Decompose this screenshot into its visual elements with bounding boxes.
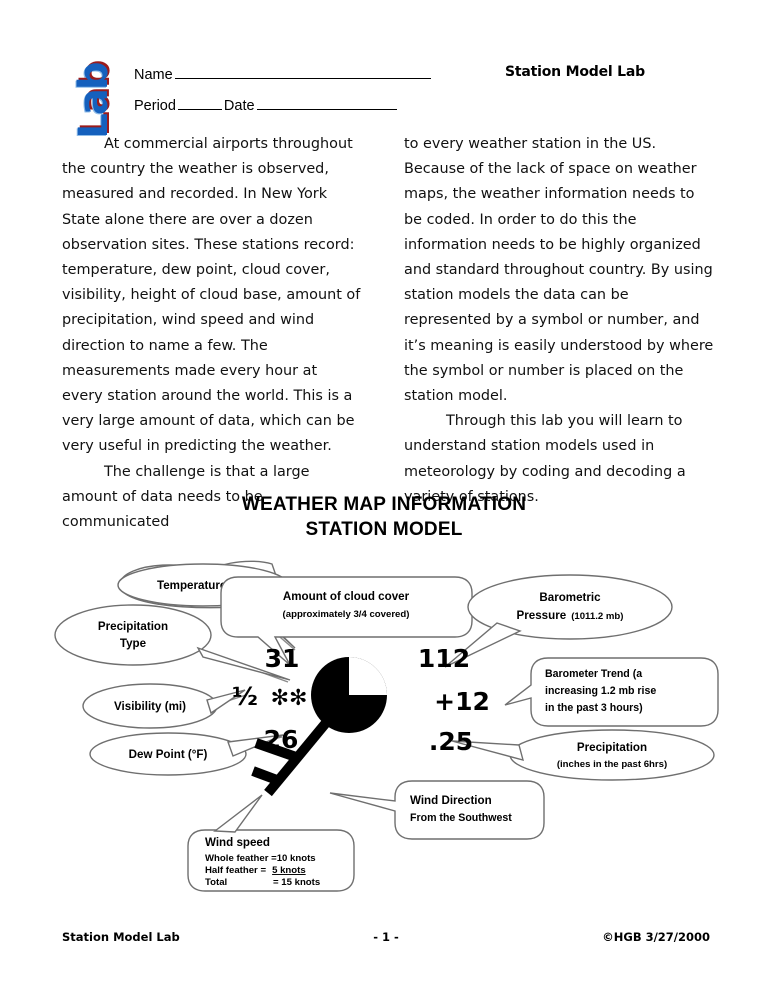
callout-wind-direction: Wind Direction From the Southwest: [330, 781, 544, 839]
callout-wind-direction-sub: From the Southwest: [410, 812, 512, 824]
value-precipitation-type: ✻✻: [271, 686, 308, 711]
callout-visibility-label: Visibility (mi): [114, 700, 186, 713]
value-pressure: 112: [418, 644, 470, 673]
right-column: to every weather station in the US. Beca…: [404, 132, 714, 510]
station-model-diagram: Temperature (°F) Precipitation Type Visi…: [0, 555, 768, 900]
callout-barometer-trend-line-3: in the past 3 hours): [545, 702, 643, 714]
diagram-title-line-2: STATION MODEL: [0, 517, 768, 542]
sky-cover-clear-quadrant: [349, 657, 387, 695]
value-temperature: 31: [265, 644, 300, 673]
callout-precipitation-label: Precipitation: [577, 741, 647, 754]
callout-barometer-trend: Barometer Trend (a increasing 1.2 mb ris…: [505, 658, 718, 726]
paragraph: At commercial airports throughout the co…: [62, 132, 362, 460]
value-precipitation-amount: .25: [429, 727, 473, 756]
date-input-blank[interactable]: [257, 95, 397, 110]
diagram-title: WEATHER MAP INFORMATION STATION MODEL: [0, 492, 768, 542]
callout-visibility: Visibility (mi): [83, 684, 245, 728]
callout-barometric-pressure: Barometric Pressure(1011.2 mb): [445, 575, 672, 667]
name-label: Name: [134, 67, 173, 83]
callout-wind-speed-line-3b: = 15 knots: [273, 877, 320, 888]
period-date-field-row: PeriodDate: [134, 95, 399, 114]
callout-precip-type-line-1: Precipitation: [98, 620, 168, 633]
callout-wind-speed-line-2b: 5 knots: [272, 865, 306, 876]
document-page: Lab Name PeriodDate Station Model Lab At…: [0, 0, 768, 994]
callout-precipitation-sub: (inches in the past 6hrs): [557, 759, 667, 770]
callout-barometric-pressure-line-2: Pressure: [517, 609, 567, 622]
callout-cloud-cover-sub: (approximately 3/4 covered): [283, 609, 410, 620]
callout-barometer-trend-line-1: Barometer Trend (a: [545, 668, 642, 680]
page-header: Lab Name PeriodDate Station Model Lab: [0, 46, 768, 132]
footer-copyright: ©HGB 3/27/2000: [602, 930, 710, 944]
lab-logo: Lab: [62, 52, 126, 128]
lab-logo-text: Lab: [71, 61, 117, 141]
page-footer: Station Model Lab - 1 - ©HGB 3/27/2000: [62, 930, 710, 950]
callout-barometer-trend-line-2: increasing 1.2 mb rise: [545, 685, 656, 697]
name-input-blank[interactable]: [175, 64, 431, 79]
callout-wind-speed-line-3a: Total: [205, 877, 227, 888]
callout-cloud-cover-label: Amount of cloud cover: [283, 590, 410, 603]
callout-barometric-pressure-line-1: Barometric: [539, 591, 601, 604]
diagram-title-line-1: WEATHER MAP INFORMATION: [0, 492, 768, 517]
callout-wind-direction-label: Wind Direction: [410, 794, 492, 807]
callout-wind-speed-line-2: Half feather =5 knots: [205, 865, 306, 876]
period-input-blank[interactable]: [178, 95, 222, 110]
period-label: Period: [134, 98, 176, 114]
callout-dew-point-label: Dew Point (°F): [129, 748, 208, 761]
value-dew-point: 26: [264, 725, 299, 754]
callout-precip-type-line-2: Type: [120, 637, 147, 650]
document-title: Station Model Lab: [430, 64, 720, 80]
callout-wind-speed-line-1: Whole feather =10 knots: [205, 853, 316, 864]
date-label: Date: [224, 98, 255, 114]
callout-wind-speed: Wind speed Whole feather =10 knots Half …: [188, 795, 354, 891]
wind-barb-half-feather: [253, 771, 277, 780]
callout-precipitation: Precipitation (inches in the past 6hrs): [452, 730, 714, 780]
value-pressure-trend: +12: [434, 687, 490, 716]
value-visibility: ½: [232, 682, 258, 711]
name-field-row: Name: [134, 64, 433, 83]
callout-wind-speed-label: Wind speed: [205, 836, 270, 849]
callout-barometric-pressure-sub: (1011.2 mb): [571, 611, 623, 622]
left-column: At commercial airports throughout the co…: [62, 132, 362, 535]
paragraph: to every weather station in the US. Beca…: [404, 132, 714, 409]
callout-wind-speed-line-2a: Half feather =: [205, 865, 266, 876]
